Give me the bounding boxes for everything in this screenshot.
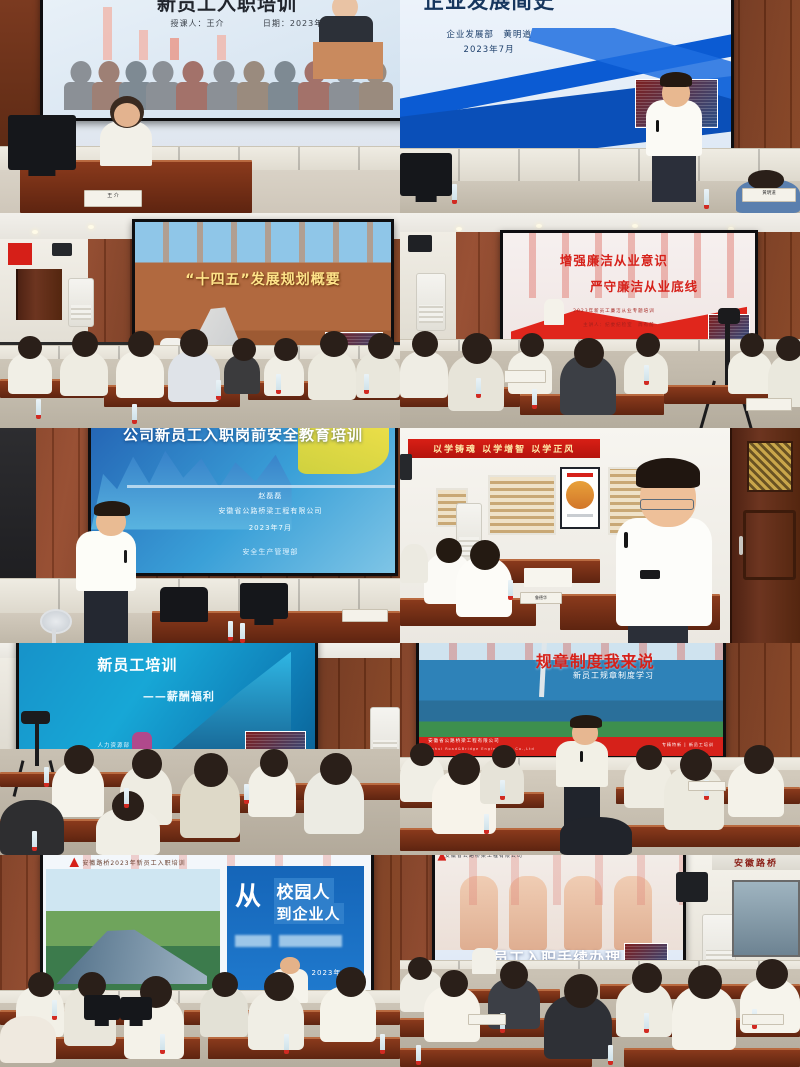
slide-title: 企业发展简史 <box>423 0 555 15</box>
water-bottle <box>124 788 129 808</box>
microphone <box>124 550 127 563</box>
slide-speaker: 主讲人：纪委纪检室 周有前 <box>583 322 655 328</box>
electric-fan <box>36 609 72 643</box>
water-bottle <box>132 404 137 424</box>
water-bottle <box>608 1045 613 1065</box>
desk-monitor <box>84 995 120 1020</box>
slide-company-en: Anhui Road&Bridge Engineering Co.,Ltd <box>428 747 535 751</box>
collage-panel-6[interactable]: 以学铸魂 以学增智 以学正风 <box>400 428 800 643</box>
collage-panel-5[interactable]: 公司新员工入职岗前安全教育培训 赵磊磊 安徽省公路桥梁工程有限公司 2023年7… <box>0 428 400 643</box>
presenter-nameplate: 王 介 <box>84 190 142 207</box>
attendee-nameplate: 鲁德华 <box>520 592 562 605</box>
microphone <box>580 751 583 762</box>
water-bottle <box>508 580 513 600</box>
slide-date: 2023年7月 <box>464 43 515 55</box>
presenter-nameplate-text: 王 介 <box>85 191 141 202</box>
slide-tagline: 专精特新 | 新员工培训 <box>662 742 714 748</box>
water-bottle <box>416 1045 421 1065</box>
water-bottle <box>484 814 489 834</box>
wall-sign: 安徽路桥 <box>712 855 800 870</box>
slide-title: 新员工入职培训 <box>157 0 297 16</box>
water-bottle <box>160 1034 165 1054</box>
slide-date: 2023年7月 <box>249 523 292 533</box>
window-blind <box>488 475 556 535</box>
water-bottle <box>476 378 481 398</box>
collage-panel-8[interactable]: 规章制度我来说 新员工规章制度学习 安徽省公路桥梁工程有限公司 Anhui Ro… <box>400 643 800 855</box>
wall-banner: 以学铸魂 以学增智 以学正风 <box>408 439 600 458</box>
slide-title-line1: 增强廉洁从业意识 <box>560 250 668 269</box>
photo-collage: 新员工入职培训 授课人：王介 日期：2023年7月 <box>0 0 800 1067</box>
attendee-nameplate-text: 黄明道 <box>743 189 795 199</box>
eyeglasses <box>640 499 694 510</box>
water-bottle <box>452 184 457 204</box>
collage-panel-3[interactable]: “十四五”发展规划概要 <box>0 213 400 428</box>
water-bottle <box>36 399 41 419</box>
wristwatch <box>640 570 660 579</box>
open-notebook <box>524 568 572 587</box>
desk-monitor <box>240 583 288 620</box>
slide-bar-decor <box>435 855 683 905</box>
collage-panel-2[interactable]: 企业发展简史 企业发展部 黄明道 2023年7月 黄明道 <box>400 0 800 213</box>
slide-blurred-name <box>235 935 271 946</box>
slide-subtitle: 2023年新员工廉洁从业专题培训 <box>573 308 654 314</box>
side-wall-dark <box>0 428 36 596</box>
wall-speaker <box>52 243 72 256</box>
wall-speaker <box>676 872 708 902</box>
water-bottle <box>364 374 369 394</box>
wall-banner-text: 以学铸魂 以学增智 以学正风 <box>433 442 576 455</box>
water-bottle <box>276 374 281 394</box>
water-bottle <box>244 784 249 804</box>
wall-speaker <box>408 235 432 252</box>
air-conditioner <box>68 278 94 327</box>
water-bottle <box>216 380 221 400</box>
slide-title: 规章制度我来说 <box>536 648 655 672</box>
attendee-nameplate <box>504 370 546 383</box>
slide-podium-illustration <box>312 0 400 81</box>
water-bottle <box>228 621 233 641</box>
wooden-door[interactable] <box>730 428 800 643</box>
microphone <box>624 532 628 548</box>
water-bottle <box>32 831 37 851</box>
microphone <box>656 120 659 132</box>
slide-title: 公司新员工入职岗前安全教育培训 <box>123 428 363 445</box>
water-bottle <box>44 767 49 787</box>
water-bottle <box>704 189 709 209</box>
collage-panel-9[interactable]: 安徽路桥2023年新员工入职培训 从 校园人 到企业人 2023年7月 <box>0 855 400 1067</box>
collage-panel-1[interactable]: 新员工入职培训 授课人：王介 日期：2023年7月 <box>0 0 400 213</box>
slide-presenter: 赵磊磊 <box>258 491 282 501</box>
water-bottle <box>284 1034 289 1054</box>
slide-blurred-org <box>279 935 342 946</box>
air-conditioner <box>416 273 446 331</box>
slide-title-line2: 到企业人 <box>274 903 344 924</box>
conference-chair[interactable] <box>160 587 208 621</box>
slide-header: 安徽路桥2023年新员工入职培训 <box>82 858 185 867</box>
water-bottle <box>240 623 245 643</box>
slide-presenter: 授课人：王介 <box>171 18 225 29</box>
slide-presenter: 企业发展部 黄明道 <box>446 28 532 40</box>
attendee-nameplate <box>746 398 792 411</box>
slide-bar-decor <box>135 222 391 262</box>
stage-panel-wall <box>400 148 800 183</box>
water-bottle <box>644 1013 649 1033</box>
water-bottle <box>532 389 537 409</box>
slide-title: “十四五”发展规划概要 <box>185 269 340 289</box>
side-door <box>16 269 62 321</box>
slide-company: 安徽省公路桥梁工程有限公司 <box>218 506 322 516</box>
desk-monitor <box>120 997 152 1020</box>
water-bottle <box>644 365 649 385</box>
water-bottle <box>500 780 505 800</box>
slide-department: 人力资源部 <box>97 741 130 749</box>
slide-subtitle: 新员工规章制度学习 <box>573 670 654 681</box>
attendee-nameplate <box>742 1014 784 1024</box>
slide-company-cn: 安徽省公路桥梁工程有限公司 <box>428 738 500 744</box>
party-flag <box>8 243 32 265</box>
water-bottle <box>380 1034 385 1054</box>
attendee-nameplate-text: 鲁德华 <box>521 593 561 602</box>
desk-monitor <box>400 153 452 196</box>
slide-subtitle: ——薪酬福利 <box>143 688 215 704</box>
attendee-nameplate: 黄明道 <box>742 188 796 203</box>
collage-panel-10[interactable]: 安徽省公路桥梁工程有限公司 新员工入职手续办理 安徽路桥 <box>400 855 800 1067</box>
attendee-nameplate <box>688 781 726 791</box>
wall-poster <box>560 467 600 529</box>
slide-title: 新员工培训 <box>97 654 177 675</box>
lecturer-at-front <box>544 299 564 325</box>
wall-sign-text: 安徽路桥 <box>734 856 778 869</box>
wall-speaker <box>400 454 412 480</box>
slide-title-line2: 严守廉洁从业底线 <box>590 276 698 295</box>
slide-header: 安徽省公路桥梁工程有限公司 <box>445 855 523 859</box>
collage-panel-4[interactable]: 增强廉洁从业意识 严守廉洁从业底线 2023年新员工廉洁从业专题培训 主讲人：纪… <box>400 213 800 428</box>
attendee-nameplate <box>468 1014 506 1024</box>
slide-footer: 安全生产管理部 <box>242 547 298 557</box>
bridge-wall-photo <box>732 880 800 956</box>
water-bottle <box>52 1000 57 1020</box>
attendee-nameplate <box>342 609 388 622</box>
slide-divider <box>127 485 395 488</box>
desk-monitor <box>8 115 76 170</box>
slide-title-line1: 校园人 <box>274 878 334 903</box>
collage-panel-7[interactable]: 新员工培训 ——薪酬福利 人力资源部 2023年7月26日 <box>0 643 400 855</box>
lecturer-at-front <box>472 948 496 973</box>
audience-head <box>748 170 784 189</box>
presentation-screen: 新员工入职培训 授课人：王介 日期：2023年7月 <box>40 0 400 121</box>
slide-title-big: 从 <box>235 876 262 913</box>
